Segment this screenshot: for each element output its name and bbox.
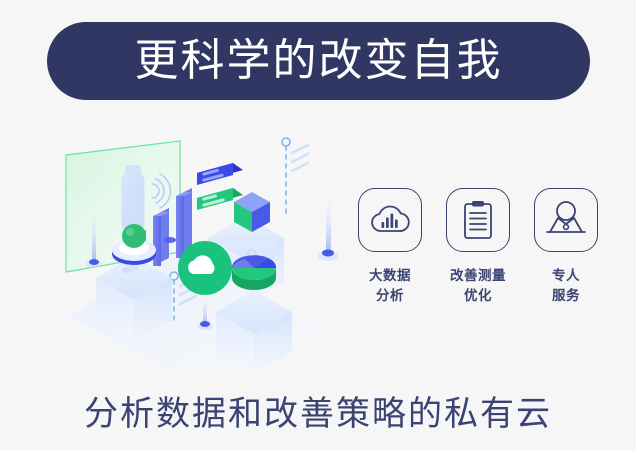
floating-dot-marker <box>164 237 176 243</box>
feature-label-line1: 专人 <box>552 266 580 286</box>
green-cloud-badge <box>178 241 232 295</box>
feature-label-big-data-analysis: 大数据 分析 <box>369 266 411 305</box>
clipboard-icon <box>446 188 510 252</box>
service-person-icon <box>534 188 598 252</box>
feature-item-dedicated-service[interactable]: 专人 服务 <box>528 188 604 305</box>
feature-label-line2: 服务 <box>552 286 580 306</box>
poster-canvas: 更科学的改变自我 <box>0 0 636 450</box>
feature-list: 大数据 分析 改善测量 优化 <box>352 188 604 328</box>
blue-info-card <box>197 163 243 185</box>
feature-label-measurement-optimization: 改善测量 优化 <box>450 266 506 305</box>
page-title: 更科学的改变自我 <box>135 39 503 83</box>
illustration <box>30 120 370 370</box>
feature-label-dedicated-service: 专人 服务 <box>552 266 580 305</box>
feature-label-line1: 大数据 <box>369 266 411 286</box>
pie-chart-3d <box>232 255 276 290</box>
feature-label-line1: 改善测量 <box>450 266 506 286</box>
feature-label-line2: 分析 <box>369 286 411 306</box>
feature-label-line2: 优化 <box>450 286 506 306</box>
cloud-bar-chart-icon <box>358 188 422 252</box>
feature-item-big-data-analysis[interactable]: 大数据 分析 <box>352 188 428 305</box>
feature-item-measurement-optimization[interactable]: 改善测量 优化 <box>440 188 516 305</box>
title-banner: 更科学的改变自我 <box>47 22 590 100</box>
stem-marker-far-right <box>318 188 338 261</box>
tagline: 分析数据和改善策略的私有云 <box>0 386 636 435</box>
